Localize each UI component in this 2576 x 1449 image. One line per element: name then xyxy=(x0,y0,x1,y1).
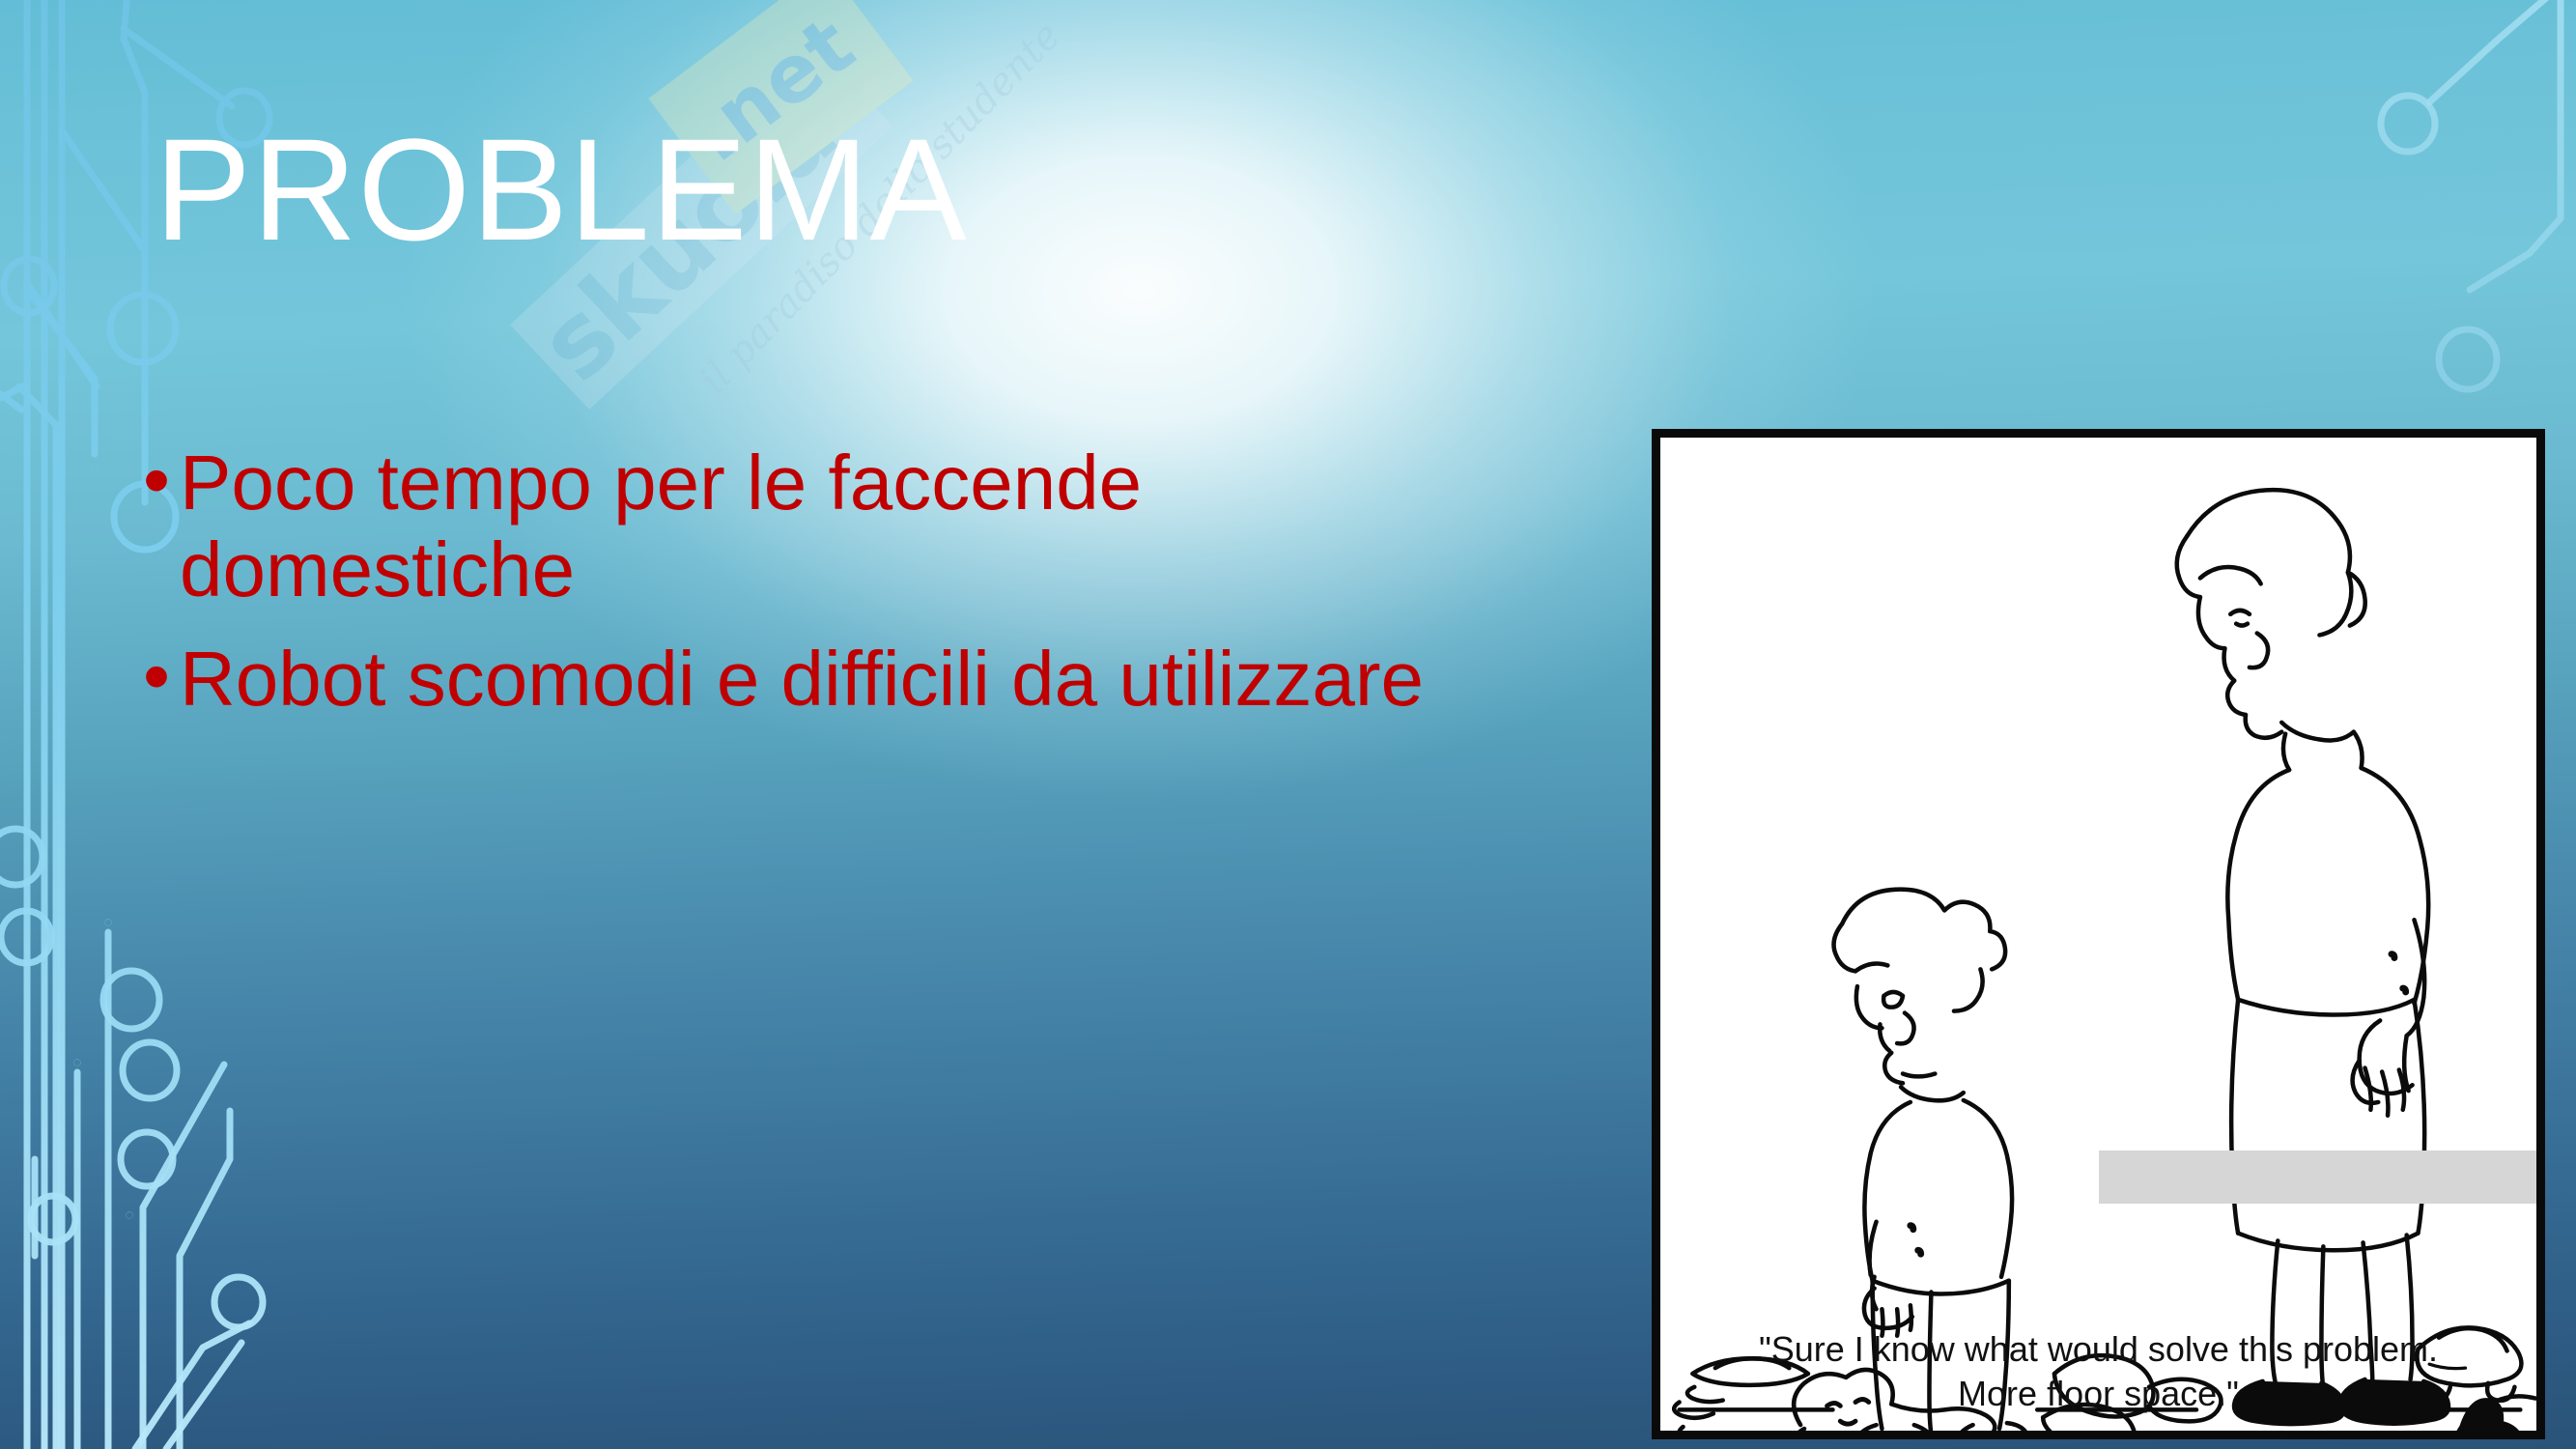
bullet-text-2: Robot scomodi e difficili da utilizzare xyxy=(180,636,1553,723)
circuit-traces-right-svg xyxy=(2354,0,2576,502)
bullet-text-1: Poco tempo per le faccende domestiche xyxy=(180,440,1553,614)
bullet-marker-icon: • xyxy=(143,636,180,716)
cartoon-illustration xyxy=(1660,438,2536,1431)
image-gray-band xyxy=(2099,1151,2537,1204)
slide-body: • Poco tempo per le faccende domestiche … xyxy=(143,440,1553,744)
bullet-item-1: • Poco tempo per le faccende domestiche xyxy=(143,440,1553,614)
caption-line-1: "Sure I know what would solve this probl… xyxy=(1660,1327,2536,1371)
presentation-slide: skuola .net il paradiso dello studente P… xyxy=(0,0,2576,1449)
cartoon-picture-frame: "Sure I know what would solve this probl… xyxy=(1652,429,2545,1439)
bullet-marker-icon: • xyxy=(143,440,180,520)
slide-title: PROBLEMA xyxy=(155,111,1507,268)
caption-line-2: More floor space." xyxy=(1660,1372,2536,1415)
bullet-item-2: • Robot scomodi e difficili da utilizzar… xyxy=(143,636,1553,723)
cartoon-caption: "Sure I know what would solve this probl… xyxy=(1660,1327,2536,1415)
